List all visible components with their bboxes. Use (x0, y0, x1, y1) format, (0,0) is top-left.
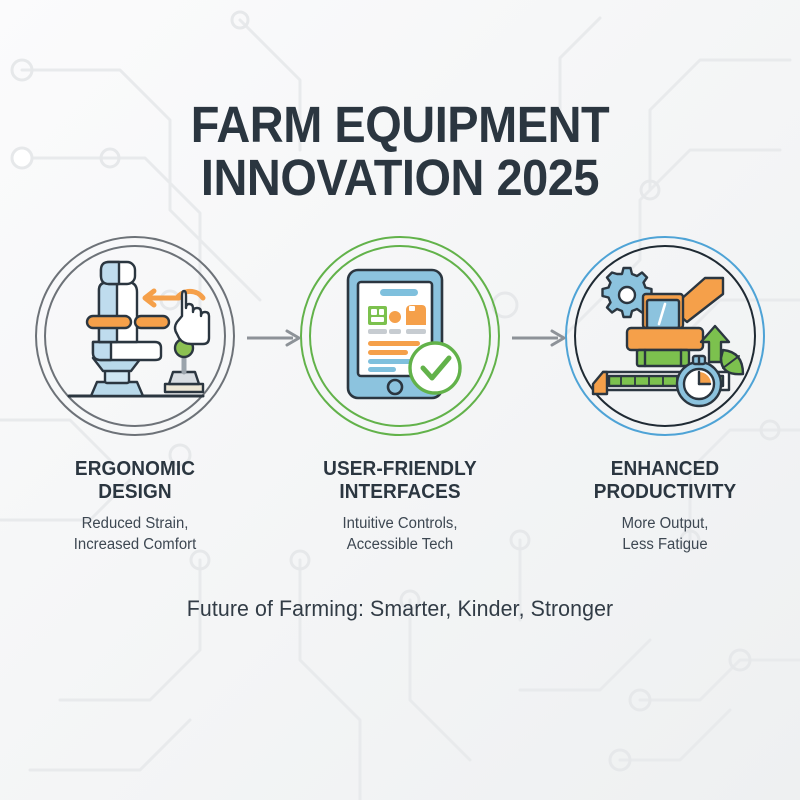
connector-arrow-1 (245, 326, 305, 350)
step-enhanced-productivity[interactable] (565, 236, 765, 436)
tablet-interface-icon (318, 254, 482, 418)
caption-subtitle: Reduced Strain, Increased Comfort (10, 513, 260, 555)
caption-title-line-1: ENHANCED (542, 458, 789, 481)
step-ergonomic-design[interactable] (35, 236, 235, 436)
arrow-right-icon (510, 326, 570, 350)
title-line-2: INNOVATION 2025 (32, 151, 768, 204)
caption-title: ERGONOMIC DESIGN (12, 458, 259, 504)
combine-harvester-icon (583, 254, 747, 418)
caption-title-line-2: INTERFACES (277, 481, 524, 504)
caption-title-line-2: PRODUCTIVITY (542, 481, 789, 504)
steps-row (0, 236, 800, 436)
caption-subtitle: Intuitive Controls, Accessible Tech (275, 513, 525, 555)
caption-ergonomic-design: ERGONOMIC DESIGN Reduced Strain, Increas… (5, 458, 265, 555)
caption-title: USER-FRIENDLY INTERFACES (277, 458, 524, 504)
caption-sub-line-2: Less Fatigue (540, 534, 790, 555)
infographic-poster: FARM EQUIPMENT INNOVATION 2025 (0, 0, 800, 800)
caption-title-line-1: ERGONOMIC (12, 458, 259, 481)
caption-subtitle: More Output, Less Fatigue (540, 513, 790, 555)
ergonomic-seat-icon (53, 254, 217, 418)
title-line-1: FARM EQUIPMENT (32, 98, 768, 151)
caption-sub-line-2: Increased Comfort (10, 534, 260, 555)
tagline: Future of Farming: Smarter, Kinder, Stro… (12, 596, 788, 622)
caption-title-line-1: USER-FRIENDLY (277, 458, 524, 481)
caption-sub-line-1: Reduced Strain, (10, 513, 260, 534)
step-user-friendly-interfaces[interactable] (300, 236, 500, 436)
caption-user-friendly-interfaces: USER-FRIENDLY INTERFACES Intuitive Contr… (270, 458, 530, 555)
caption-sub-line-2: Accessible Tech (275, 534, 525, 555)
page-title: FARM EQUIPMENT INNOVATION 2025 (0, 98, 800, 204)
caption-title: ENHANCED PRODUCTIVITY (542, 458, 789, 504)
arrow-right-icon (245, 326, 305, 350)
caption-title-line-2: DESIGN (12, 481, 259, 504)
caption-sub-line-1: More Output, (540, 513, 790, 534)
connector-arrow-2 (510, 326, 570, 350)
caption-enhanced-productivity: ENHANCED PRODUCTIVITY More Output, Less … (535, 458, 795, 555)
caption-sub-line-1: Intuitive Controls, (275, 513, 525, 534)
